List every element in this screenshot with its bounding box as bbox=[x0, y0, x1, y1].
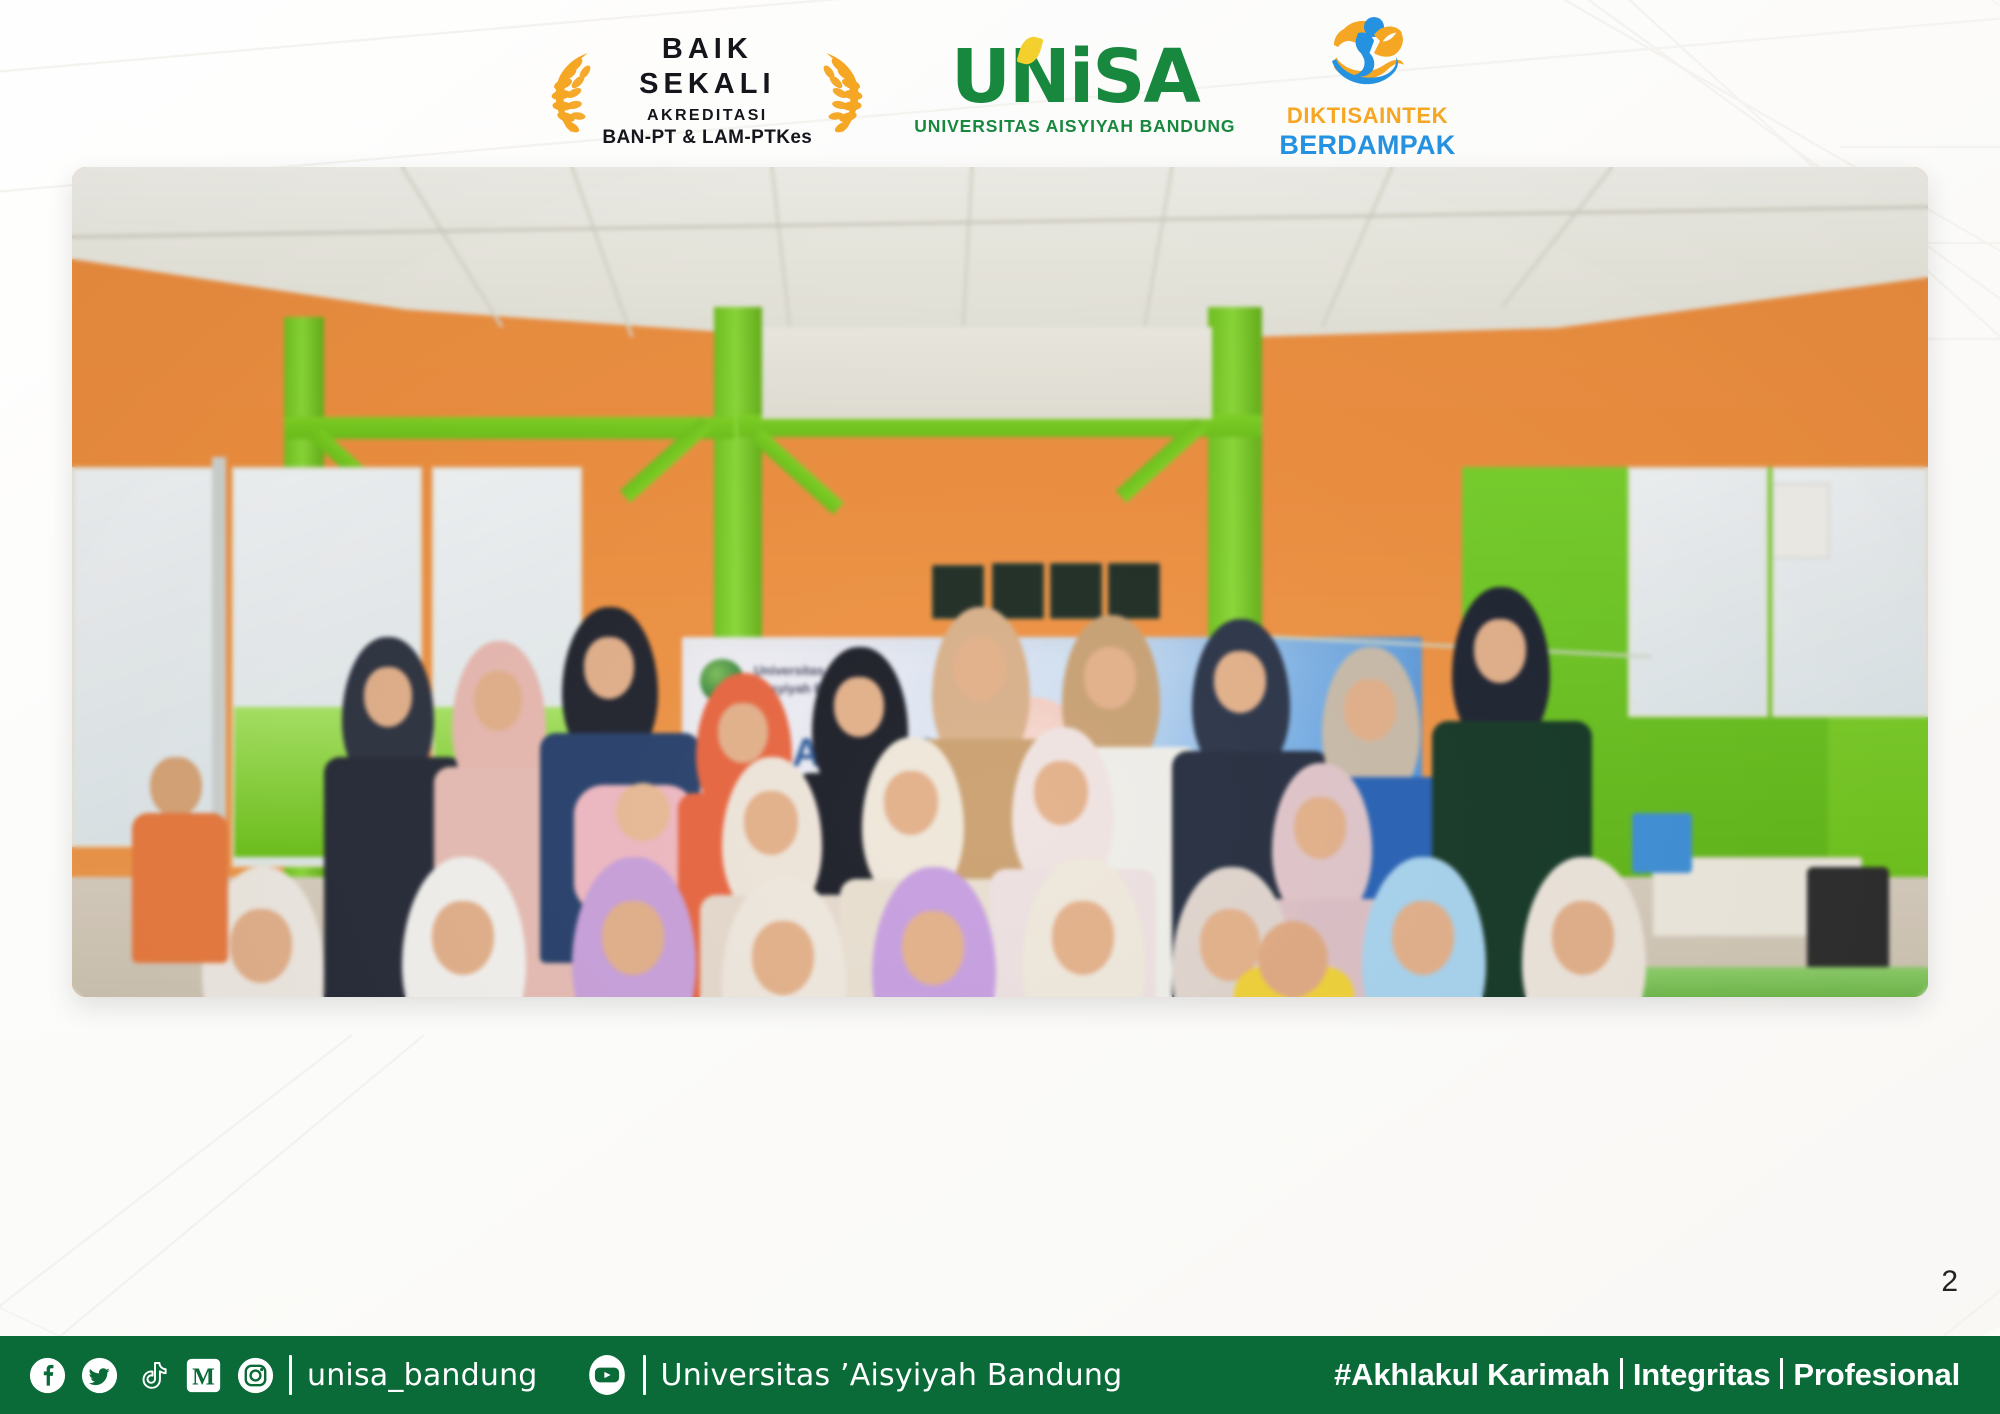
facebook-icon[interactable] bbox=[29, 1357, 66, 1394]
header-logo-bar: BAIK SEKALI AKREDITASI BAN-PT & LAM-PTKe… bbox=[0, 0, 2000, 167]
footer-tagline-1: #Akhlakul Karimah bbox=[1334, 1357, 1610, 1392]
diktisaintek-logo: DIKTISAINTEK BERDAMPAK bbox=[1279, 9, 1455, 161]
footer-social-icons: M bbox=[29, 1357, 274, 1394]
footer-social-group: M unisa_bandung bbox=[0, 1355, 538, 1395]
youtube-icon[interactable] bbox=[586, 1354, 628, 1396]
instagram-icon[interactable] bbox=[237, 1357, 274, 1394]
footer-separator-2 bbox=[643, 1355, 646, 1395]
svg-text:M: M bbox=[192, 1364, 215, 1390]
slide-canvas: BAIK SEKALI AKREDITASI BAN-PT & LAM-PTKe… bbox=[0, 0, 2000, 1414]
badge-line-1: BAIK bbox=[602, 35, 812, 64]
footer-tagline: #Akhlakul KarimahIntegritasProfesional bbox=[1334, 1357, 1960, 1393]
footer-bar: M unisa_bandung Universitas ’Aisyiyah Ba… bbox=[0, 1336, 2000, 1414]
laurel-right-icon bbox=[816, 45, 870, 137]
footer-youtube-channel: Universitas ’Aisyiyah Bandung bbox=[661, 1358, 1123, 1393]
twitter-icon[interactable] bbox=[81, 1357, 118, 1394]
badge-line-4: BAN-PT & LAM-PTKes bbox=[602, 128, 812, 147]
badge-line-3: AKREDITASI bbox=[602, 108, 812, 124]
tiktok-icon[interactable] bbox=[133, 1357, 170, 1394]
footer-tagline-2: Integritas bbox=[1633, 1357, 1771, 1392]
baik-sekali-accreditation-badge: BAIK SEKALI AKREDITASI BAN-PT & LAM-PTKe… bbox=[544, 35, 870, 147]
footer-social-handle: unisa_bandung bbox=[307, 1358, 538, 1393]
footer-youtube-group: Universitas ’Aisyiyah Bandung bbox=[586, 1354, 1123, 1396]
footer-tagline-3: Profesional bbox=[1793, 1357, 1960, 1392]
unisa-logo: UNiSA UNIVERSITAS AISYIYAH BANDUNG bbox=[914, 42, 1235, 137]
footer-tagline-sep-1 bbox=[1620, 1358, 1623, 1389]
footer-tagline-group: #Akhlakul KarimahIntegritasProfesional bbox=[1334, 1357, 1960, 1393]
laurel-left-icon bbox=[544, 45, 598, 137]
page-number: 2 bbox=[1941, 1265, 1958, 1299]
medium-icon[interactable]: M bbox=[185, 1357, 222, 1394]
photo-blend-overlay bbox=[72, 167, 1928, 997]
footer-separator-1 bbox=[289, 1355, 292, 1395]
unisa-wordmark: UNiSA bbox=[914, 42, 1235, 112]
diktisaintek-line-1: DIKTISAINTEK bbox=[1279, 103, 1455, 129]
unisa-wordmark-i: i bbox=[1069, 34, 1092, 120]
diktisaintek-figure-icon bbox=[1312, 9, 1422, 101]
group-photo-kader-posyandu: Universitas 'Aisyiyah Bandung STRATEGIS … bbox=[72, 167, 1928, 997]
unisa-wordmark-un: UN bbox=[951, 34, 1069, 120]
footer-tagline-sep-2 bbox=[1780, 1358, 1783, 1389]
unisa-wordmark-sa: SA bbox=[1092, 34, 1199, 120]
badge-line-2: SEKALI bbox=[602, 70, 812, 99]
diktisaintek-line-2: BERDAMPAK bbox=[1279, 130, 1455, 161]
